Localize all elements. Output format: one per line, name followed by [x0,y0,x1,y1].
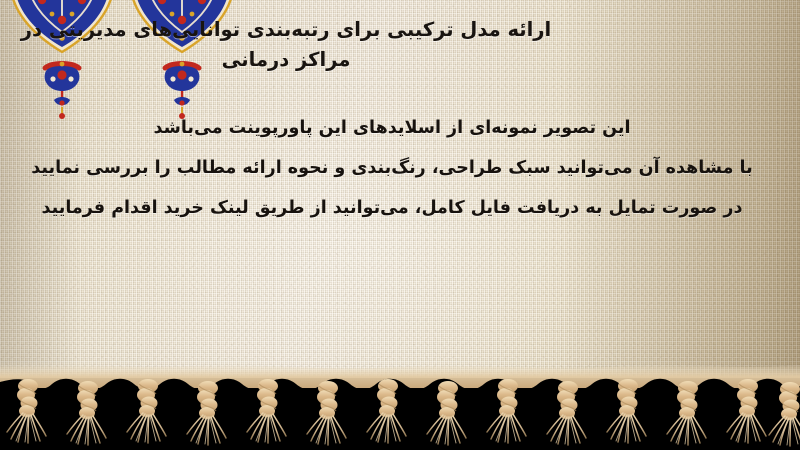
body-line-2: با مشاهده آن می‌توانید سبک طراحی، رنگ‌بن… [0,148,784,188]
body-text-block: این تصویر نمونه‌ای از اسلایدهای این پاور… [0,108,784,228]
body-line-1: این تصویر نمونه‌ای از اسلایدهای این پاور… [0,108,784,148]
powerpoint-slide: ارائه مدل ترکیبی برای رتبه‌بندی توانایی‌… [0,0,800,450]
fringe-tassels [0,358,800,450]
carpet-fringe-band [0,358,800,450]
body-line-3: در صورت تمایل به دریافت فایل کامل، می‌تو… [0,188,784,228]
page-title: ارائه مدل ترکیبی برای رتبه‌بندی توانایی‌… [0,15,782,74]
